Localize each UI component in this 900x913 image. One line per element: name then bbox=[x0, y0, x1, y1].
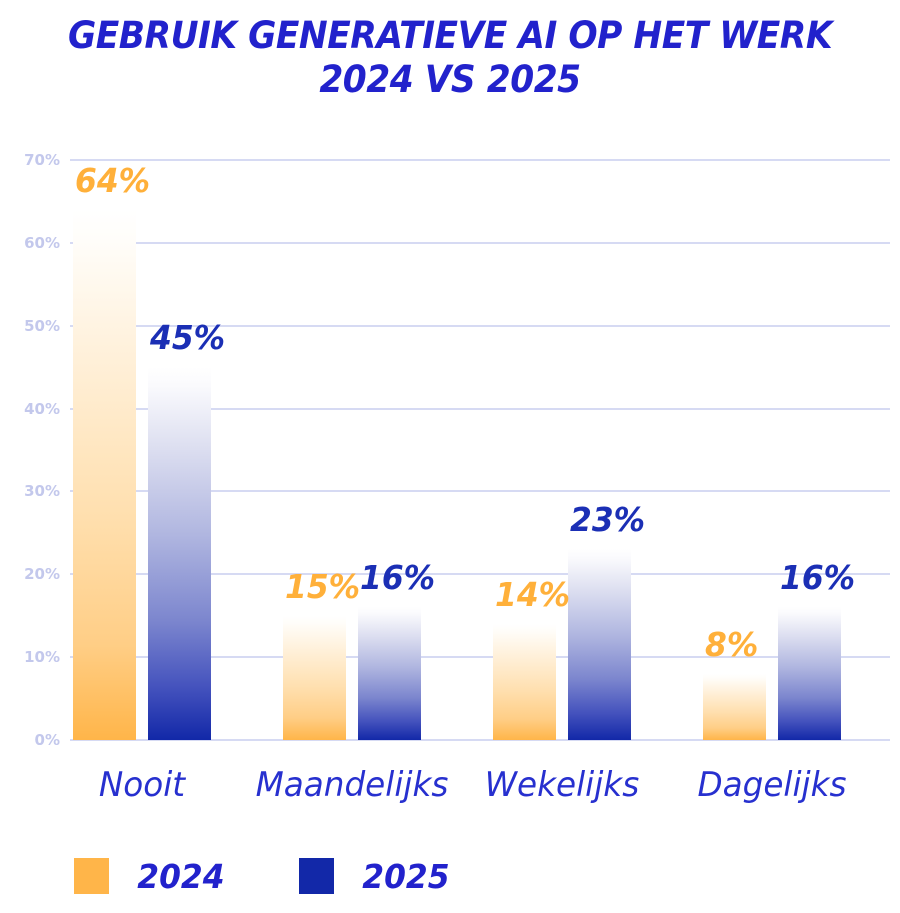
legend-label-2024: 2024 bbox=[137, 860, 224, 893]
category-label-wekelijks: Wekelijks bbox=[452, 765, 673, 805]
y-tick-label: 20% bbox=[4, 567, 60, 582]
y-tick-label: 70% bbox=[4, 153, 60, 168]
value-label-nooit-2024: 64% bbox=[75, 164, 150, 197]
bar-dagelijks-2024[interactable] bbox=[703, 674, 766, 740]
gridline-60 bbox=[70, 242, 890, 244]
category-label-dagelijks: Dagelijks bbox=[662, 765, 883, 805]
y-tick-label: 60% bbox=[4, 236, 60, 251]
bar-dagelijks-2025[interactable] bbox=[778, 607, 841, 740]
gridline-70 bbox=[70, 159, 890, 161]
value-label-dagelijks-2025: 16% bbox=[780, 561, 855, 594]
value-label-dagelijks-2024: 8% bbox=[705, 628, 758, 661]
plot-area: 0%10%20%30%40%50%60%70% 64%15%14%8%45%16… bbox=[70, 160, 890, 740]
bar-wekelijks-2025[interactable] bbox=[568, 549, 631, 740]
legend-label-2025: 2025 bbox=[362, 860, 449, 893]
value-label-maandelijks-2024: 15% bbox=[285, 570, 360, 603]
chart-title: GEBRUIK GENERATIEVE AI OP HET WERK 2024 … bbox=[32, 14, 869, 102]
chart-legend: 20242025 bbox=[74, 858, 452, 894]
value-label-wekelijks-2024: 14% bbox=[495, 578, 570, 611]
bar-maandelijks-2024[interactable] bbox=[283, 616, 346, 740]
value-label-maandelijks-2025: 16% bbox=[360, 561, 435, 594]
value-label-wekelijks-2025: 23% bbox=[570, 503, 645, 536]
y-tick-label: 40% bbox=[4, 402, 60, 417]
category-label-nooit: Nooit bbox=[32, 765, 253, 805]
legend-swatch-2024 bbox=[74, 858, 109, 894]
legend-item-2024[interactable]: 2024 bbox=[74, 858, 227, 894]
value-label-nooit-2025: 45% bbox=[150, 321, 225, 354]
bar-nooit-2025[interactable] bbox=[148, 367, 211, 740]
y-tick-label: 50% bbox=[4, 319, 60, 334]
y-tick-label: 0% bbox=[4, 733, 60, 748]
legend-swatch-2025 bbox=[299, 858, 334, 894]
bar-maandelijks-2025[interactable] bbox=[358, 607, 421, 740]
bar-wekelijks-2024[interactable] bbox=[493, 624, 556, 740]
y-tick-label: 10% bbox=[4, 650, 60, 665]
legend-item-2025[interactable]: 2025 bbox=[299, 858, 452, 894]
y-tick-label: 30% bbox=[4, 484, 60, 499]
category-label-maandelijks: Maandelijks bbox=[242, 765, 463, 805]
bar-nooit-2024[interactable] bbox=[73, 210, 136, 740]
